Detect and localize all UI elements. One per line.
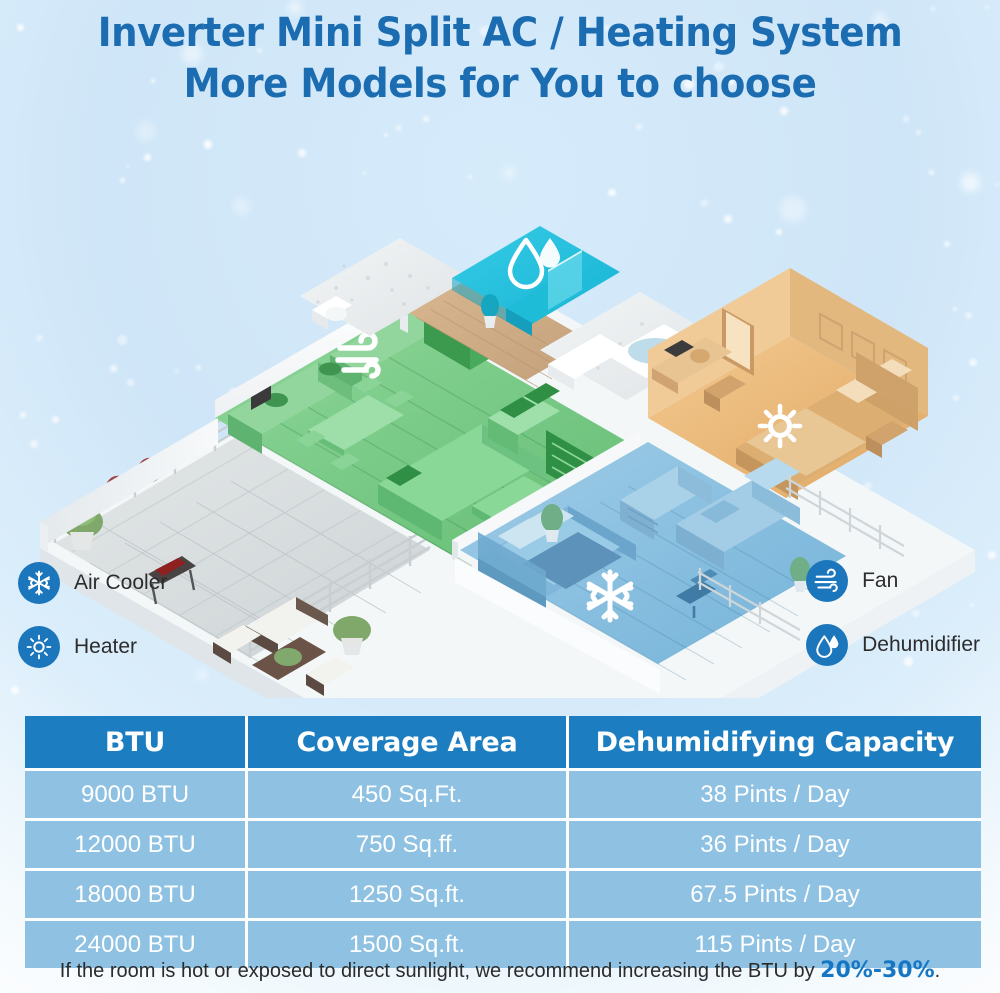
table-row: 12000 BTU 750 Sq.ff. 36 Pints / Day (25, 818, 981, 868)
spec-table-container: BTU Coverage Area Dehumidifying Capacity… (25, 716, 975, 968)
legend-label: Heater (74, 635, 137, 659)
cell-coverage: 450 Sq.Ft. (245, 768, 566, 818)
legend-label: Dehumidifier (862, 633, 980, 657)
cell-dehumidifying: 36 Pints / Day (566, 818, 981, 868)
spec-table: BTU Coverage Area Dehumidifying Capacity… (25, 716, 981, 968)
cell-btu: 9000 BTU (25, 768, 245, 818)
infographic-page: Inverter Mini Split AC / Heating System … (0, 0, 1000, 993)
snowflake-icon (18, 562, 60, 604)
cell-dehumidifying: 38 Pints / Day (566, 768, 981, 818)
footnote: If the room is hot or exposed to direct … (0, 958, 1000, 983)
column-header-coverage-area: Coverage Area (245, 716, 566, 768)
wind-icon (806, 560, 848, 602)
column-header-btu: BTU (25, 716, 245, 768)
legend-label: Fan (862, 569, 898, 593)
legend-right: Fan Dehumidifier (806, 560, 980, 666)
page-title: Inverter Mini Split AC / Heating System … (0, 8, 1000, 110)
table-row: 9000 BTU 450 Sq.Ft. 38 Pints / Day (25, 768, 981, 818)
water-drop-icon (806, 624, 848, 666)
cell-coverage: 1250 Sq.ft. (245, 868, 566, 918)
legend-item-heater: Heater (18, 626, 137, 668)
cell-dehumidifying: 67.5 Pints / Day (566, 868, 981, 918)
table-header-row: BTU Coverage Area Dehumidifying Capacity (25, 716, 981, 768)
legend-item-air-cooler: Air Cooler (18, 562, 167, 604)
cell-coverage: 750 Sq.ff. (245, 818, 566, 868)
legend-item-fan: Fan (806, 560, 898, 602)
title-line-1: Inverter Mini Split AC / Heating System (35, 8, 965, 59)
title-line-2: More Models for You to choose (35, 59, 965, 110)
footnote-suffix: . (935, 960, 941, 982)
cell-btu: 18000 BTU (25, 868, 245, 918)
column-header-dehumidifying-capacity: Dehumidifying Capacity (566, 716, 981, 768)
footnote-highlight: 20%-30% (820, 958, 934, 983)
legend-left: Air Cooler Heat (18, 562, 167, 668)
cell-btu: 12000 BTU (25, 818, 245, 868)
table-row: 18000 BTU 1250 Sq.ft. 67.5 Pints / Day (25, 868, 981, 918)
sun-icon (18, 626, 60, 668)
legend-label: Air Cooler (74, 571, 167, 595)
legend-item-dehumidifier: Dehumidifier (806, 624, 980, 666)
footnote-text: If the room is hot or exposed to direct … (60, 960, 820, 982)
